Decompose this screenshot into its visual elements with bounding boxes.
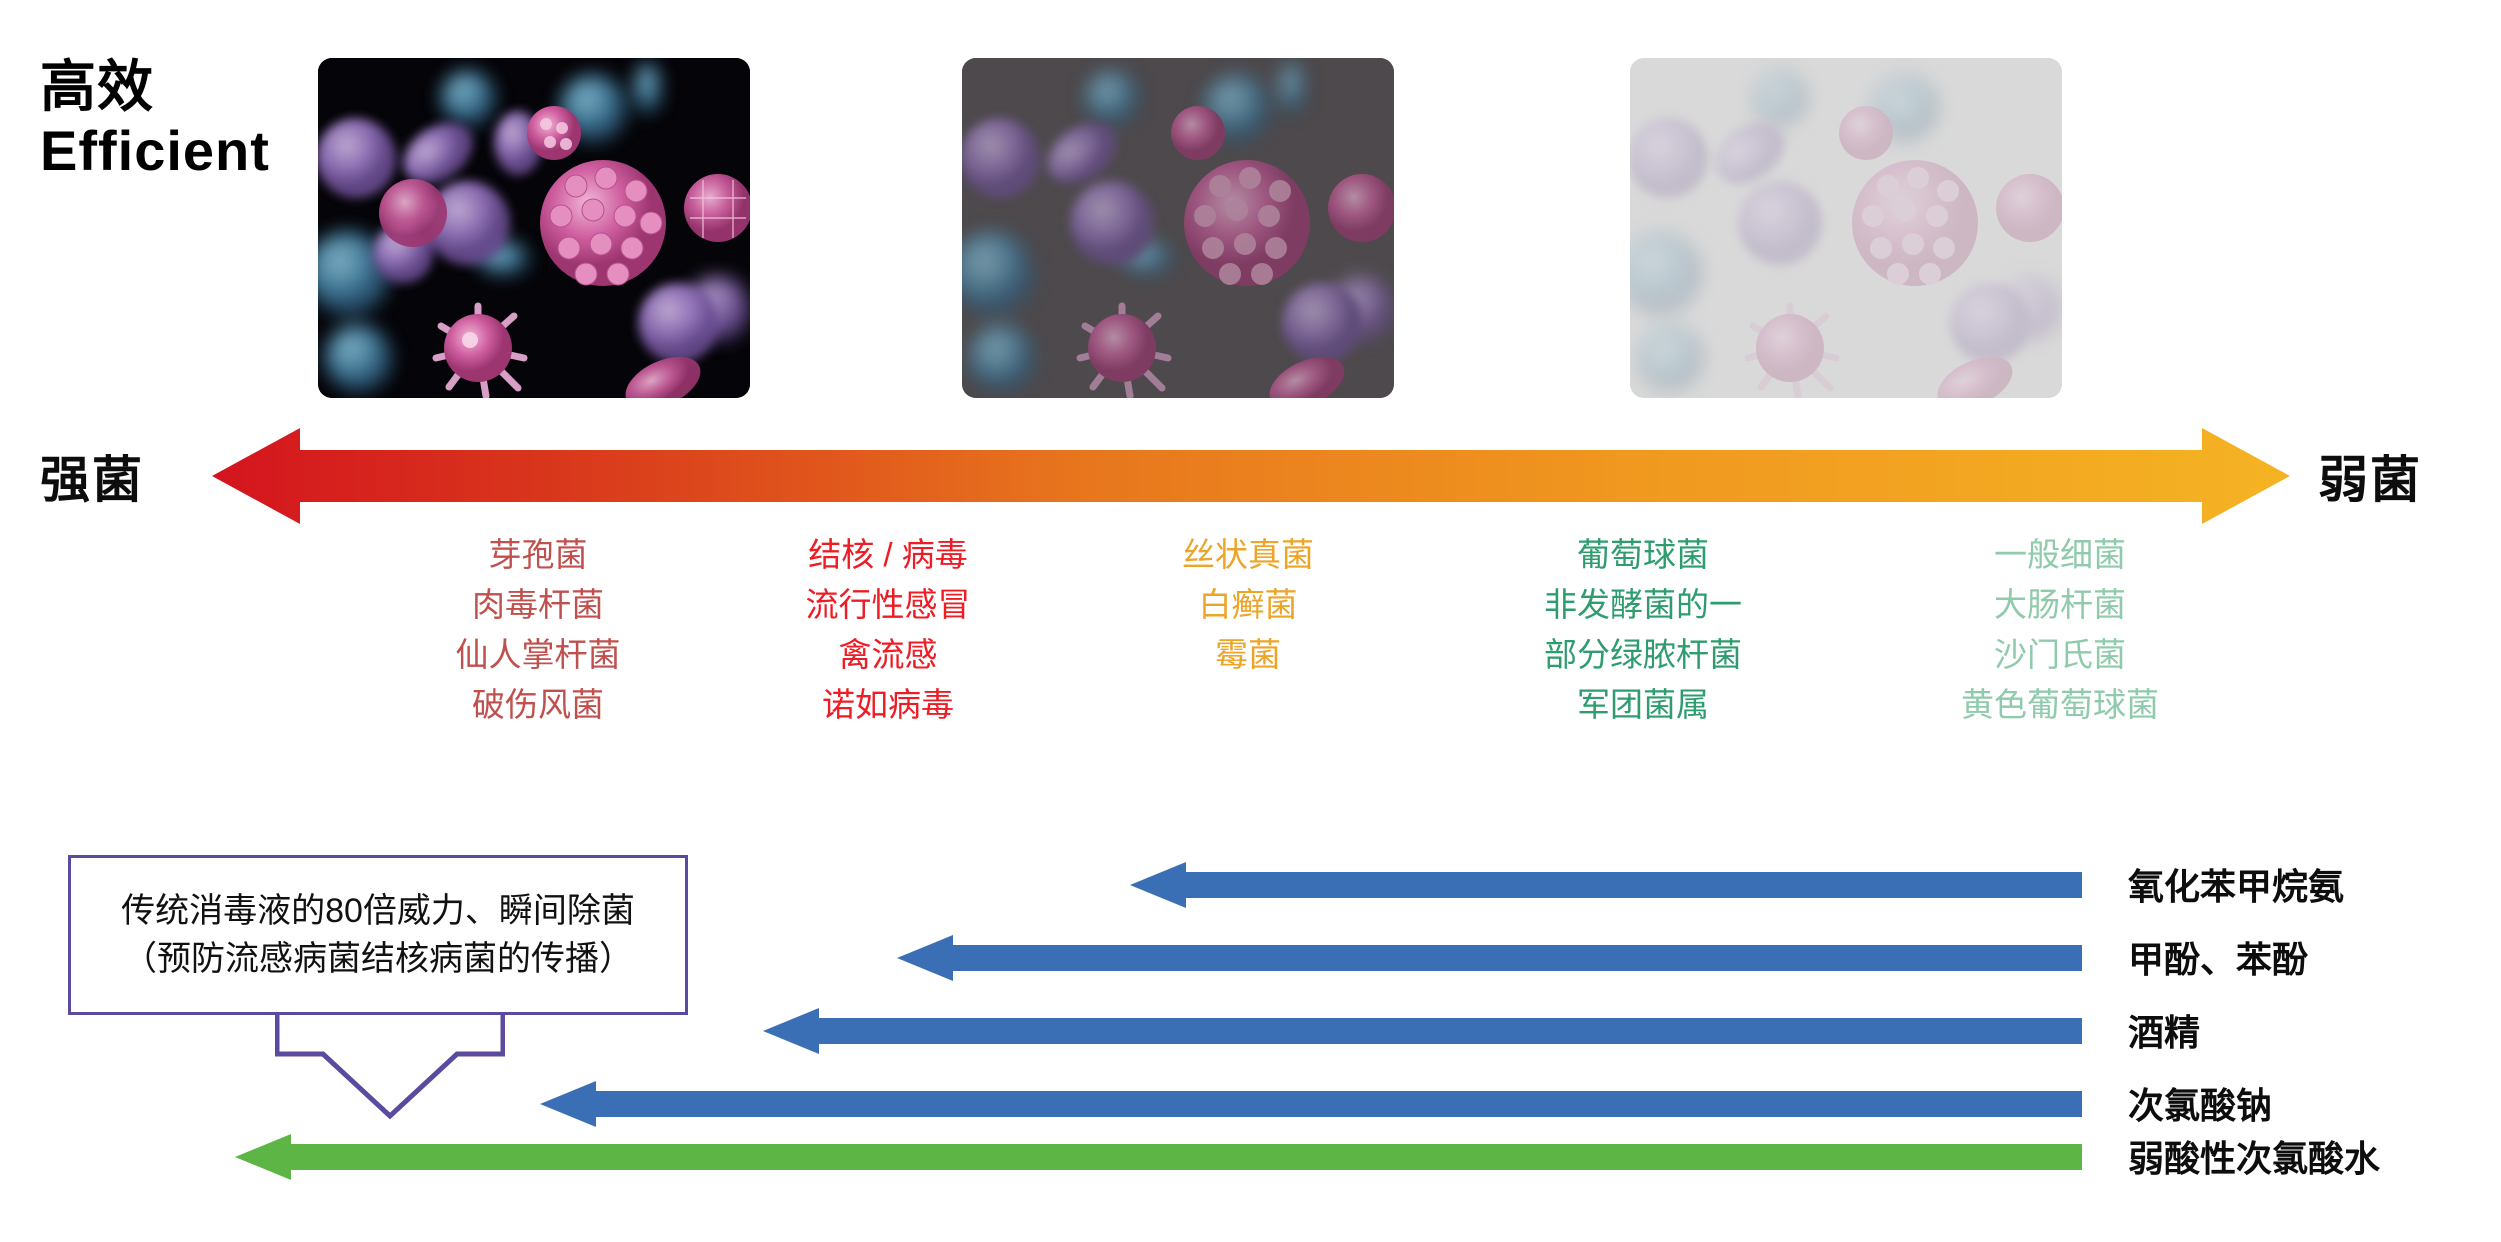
infographic-root: 高效 Efficient: [0, 0, 2501, 1242]
germ-column-5: 一般细菌 大肠杆菌 沙门氏菌 黄色葡萄球菌: [1890, 530, 2230, 730]
page-title-cn: 高效: [40, 55, 270, 119]
germ-item: 禽流感: [738, 630, 1038, 680]
germ-item: 肉毒杆菌: [378, 580, 698, 630]
microbe-panel-dark: [318, 58, 750, 398]
disinfectant-label-2: 酒精: [2128, 1004, 2200, 1056]
disinfectant-arrow-4: [235, 1134, 2082, 1180]
disinfectant-label-0: 氧化苯甲烷氨: [2128, 858, 2344, 910]
germ-item: 部分绿脓杆菌: [1478, 630, 1808, 680]
germ-item: 丝状真菌: [1108, 530, 1388, 580]
microbe-panel-light: [1630, 58, 2062, 398]
disinfectant-label-4: 弱酸性次氯酸水: [2128, 1130, 2380, 1182]
callout-line-2: （预防流感病菌结核病菌的传播）: [123, 935, 633, 983]
germ-column-4: 葡萄球菌 非发酵菌的一 部分绿脓杆菌 军团菌属: [1478, 530, 1808, 730]
germ-item: 结核 / 病毒: [738, 530, 1038, 580]
germ-item: 军团菌属: [1478, 680, 1808, 730]
page-title: 高效 Efficient: [40, 55, 270, 184]
disinfectant-label-1: 甲酚、苯酚: [2128, 931, 2308, 983]
germ-item: 沙门氏菌: [1890, 630, 2230, 680]
germ-item: 仙人掌杆菌: [378, 630, 698, 680]
strength-spectrum-arrow: [212, 428, 2290, 524]
germ-item: 芽孢菌: [378, 530, 698, 580]
germ-column-3: 丝状真菌 白癣菌 霉菌: [1108, 530, 1388, 680]
germ-item: 白癣菌: [1108, 580, 1388, 630]
page-title-en: Efficient: [40, 119, 270, 183]
germ-item: 非发酵菌的一: [1478, 580, 1808, 630]
germ-item: 霉菌: [1108, 630, 1388, 680]
callout-box: 传统消毒液的80倍威力、瞬间除菌 （预防流感病菌结核病菌的传播）: [68, 855, 688, 1015]
disinfectant-arrow-2: [763, 1008, 2082, 1054]
germ-item: 诺如病毒: [738, 680, 1038, 730]
disinfectant-arrow-1: [897, 935, 2082, 981]
germ-item: 大肠杆菌: [1890, 580, 2230, 630]
germ-item: 流行性感冒: [738, 580, 1038, 630]
microbe-illustration-light: [1630, 58, 2062, 398]
germ-item: 破伤风菌: [378, 680, 698, 730]
pole-label-weak: 弱菌: [2318, 440, 2422, 512]
disinfectant-arrow-0: [1130, 862, 2082, 908]
microbe-illustration-dark: [318, 58, 750, 398]
germ-name-columns: 芽孢菌 肉毒杆菌 仙人掌杆菌 破伤风菌 结核 / 病毒 流行性感冒 禽流感 诺如…: [0, 530, 2501, 790]
disinfectant-label-3: 次氯酸钠: [2128, 1077, 2272, 1129]
disinfectant-arrow-3: [540, 1081, 2082, 1127]
germ-item: 葡萄球菌: [1478, 530, 1808, 580]
germ-column-1: 芽孢菌 肉毒杆菌 仙人掌杆菌 破伤风菌: [378, 530, 698, 730]
pole-label-strong: 强菌: [40, 440, 144, 512]
callout-line-1: 传统消毒液的80倍威力、瞬间除菌: [121, 887, 635, 935]
germ-item: 一般细菌: [1890, 530, 2230, 580]
microbe-illustration-grey: [962, 58, 1394, 398]
germ-column-2: 结核 / 病毒 流行性感冒 禽流感 诺如病毒: [738, 530, 1038, 730]
germ-item: 黄色葡萄球菌: [1890, 680, 2230, 730]
microbe-panel-grey: [962, 58, 1394, 398]
callout-pointer-arrow: [275, 1010, 505, 1120]
